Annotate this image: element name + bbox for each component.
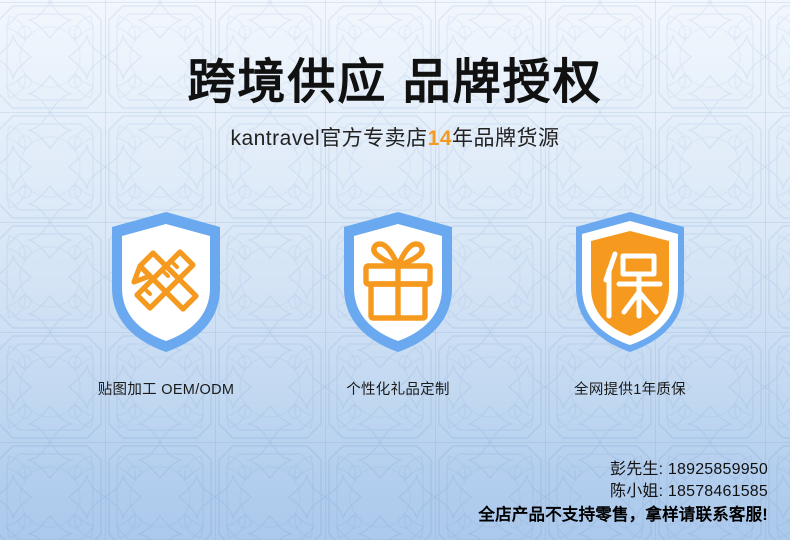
contact-line-chen: 陈小姐: 18578461585: [478, 481, 768, 504]
feature-item-oem: 贴图加工 OEM/ODM: [50, 208, 282, 399]
feature-caption-warranty: 全网提供1年质保: [574, 378, 686, 399]
subtitle-text-before: kantravel官方专卖店: [230, 127, 427, 150]
page-subtitle: kantravel官方专卖店14年品牌货源: [0, 122, 790, 152]
subtitle-years-accent: 14: [428, 127, 452, 150]
ruler-pencil-shield: [104, 208, 228, 356]
retail-notice: 全店产品不支持零售，拿样请联系客服!: [478, 504, 768, 528]
subtitle-text-after: 年品牌货源: [452, 127, 560, 150]
feature-caption-gift: 个性化礼品定制: [346, 378, 450, 399]
feature-list: 贴图加工 OEM/ODM 个性化礼品定制: [0, 208, 790, 399]
contact-line-peng: 彭先生: 18925859950: [478, 459, 768, 482]
title-block: 跨境供应 品牌授权 kantravel官方专卖店14年品牌货源: [0, 58, 790, 152]
gift-shield: [336, 208, 460, 356]
contact-block: 彭先生: 18925859950 陈小姐: 18578461585 全店产品不支…: [478, 459, 768, 528]
feature-item-warranty: 全网提供1年质保: [514, 208, 746, 399]
page-title: 跨境供应 品牌授权: [0, 58, 790, 108]
feature-item-gift: 个性化礼品定制: [282, 208, 514, 399]
feature-caption-oem: 贴图加工 OEM/ODM: [98, 378, 235, 399]
promo-banner: 跨境供应 品牌授权 kantravel官方专卖店14年品牌货源: [0, 0, 790, 540]
guarantee-shield: [568, 208, 692, 356]
